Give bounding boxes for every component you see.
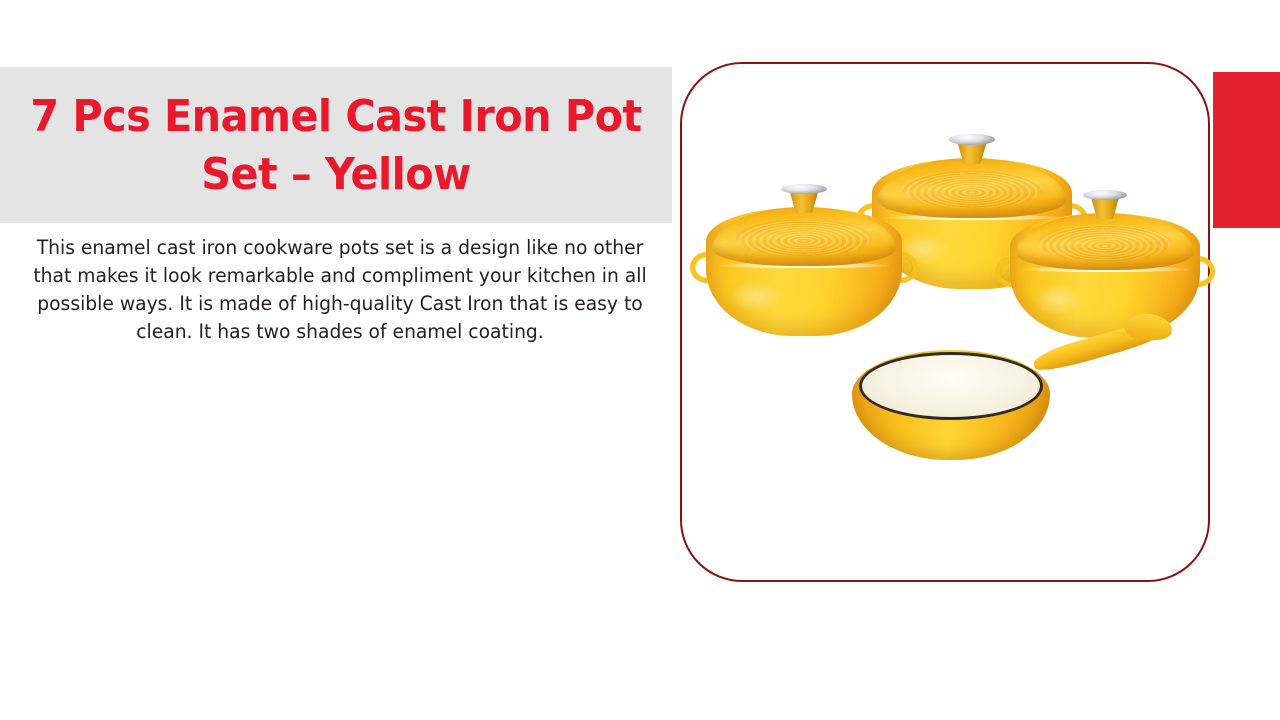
lid-ring-texture [902,171,1041,208]
lid-ring-texture [736,220,872,257]
dutch-oven-front-left [706,208,902,336]
dutch-oven-right [1010,214,1200,338]
product-image-cookware-set [680,62,1210,582]
product-description: This enamel cast iron cookware pots set … [31,234,649,346]
pot-highlight [1033,283,1082,315]
pot-highlight [730,280,781,313]
pot-knob-cap-icon [781,184,826,194]
page-title: 7 Pcs Enamel Cast Iron Pot Set – Yellow [20,88,652,204]
lid-ring-texture [1039,225,1171,260]
pot-knob-cap-icon [1083,190,1127,200]
frying-pan-interior [859,352,1043,420]
pot-knob-cap-icon [949,134,995,144]
frying-pan [852,350,1050,460]
accent-block [1213,72,1280,228]
